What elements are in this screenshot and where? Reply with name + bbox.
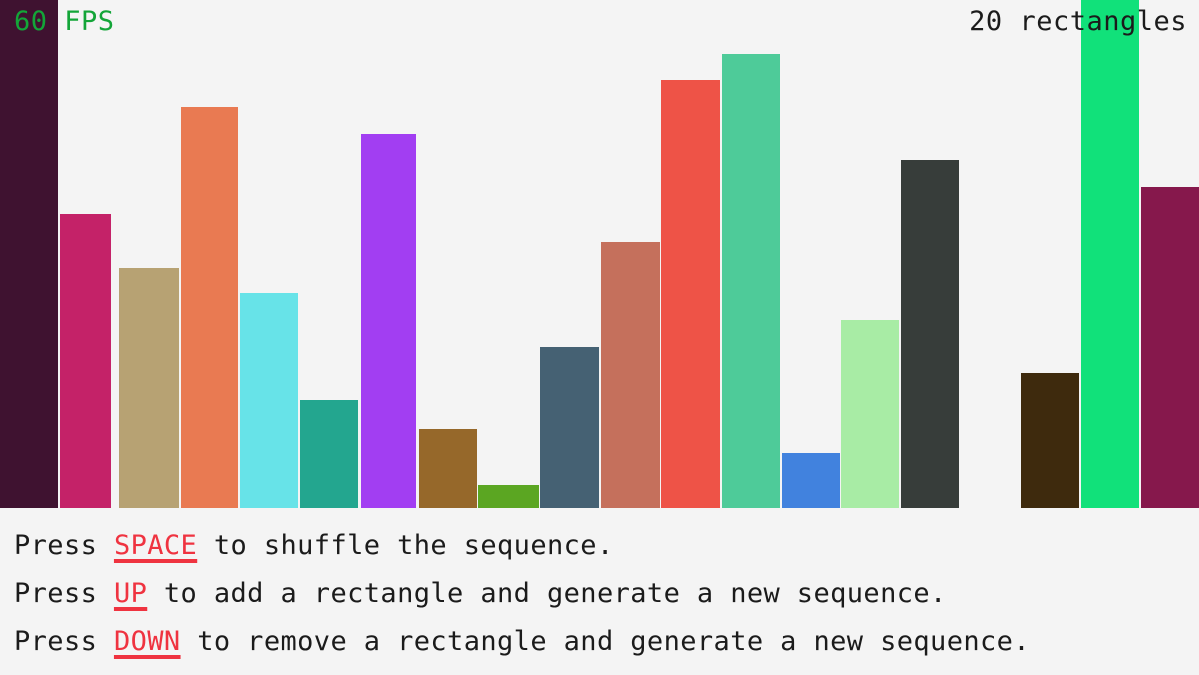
rectangle-count-label: 20 rectangles	[969, 7, 1187, 37]
bar-16-dark-gray	[901, 160, 959, 508]
instruction-line-remove: Press DOWN to remove a rectangle and gen…	[14, 618, 1199, 666]
instructions-panel: Press SPACE to shuffle the sequence. Pre…	[0, 508, 1199, 675]
bar-11-terracotta	[601, 242, 660, 508]
instruction-suffix: to add a rectangle and generate a new se…	[147, 578, 946, 609]
key-up[interactable]: UP	[114, 578, 147, 609]
fps-counter: 60 FPS	[14, 7, 115, 37]
bar-2-magenta	[60, 214, 111, 508]
bar-19-bright-green	[1081, 0, 1139, 508]
instruction-suffix: to shuffle the sequence.	[197, 530, 613, 561]
bar-10-slate-blue	[540, 347, 599, 508]
bar-9-olive-green	[478, 485, 539, 508]
bar-18-dark-brown	[1021, 373, 1079, 508]
bar-7-purple	[361, 134, 416, 508]
bar-chart-canvas[interactable]	[0, 0, 1199, 508]
key-space[interactable]: SPACE	[114, 530, 197, 561]
instruction-line-shuffle: Press SPACE to shuffle the sequence.	[14, 522, 1199, 570]
instruction-prefix: Press	[14, 578, 114, 609]
bar-20-maroon	[1141, 187, 1199, 508]
bar-13-sea-green	[722, 54, 780, 508]
bar-15-light-green	[841, 320, 899, 508]
instruction-prefix: Press	[14, 530, 114, 561]
bar-8-brown	[419, 429, 477, 508]
bar-3-tan	[119, 268, 179, 508]
bar-5-cyan	[240, 293, 298, 508]
bar-1-dark-plum	[0, 0, 58, 508]
bar-6-teal	[300, 400, 358, 508]
instruction-prefix: Press	[14, 626, 114, 657]
instruction-suffix: to remove a rectangle and generate a new…	[181, 626, 1030, 657]
bar-4-orange	[181, 107, 238, 508]
bar-12-red	[661, 80, 720, 508]
instruction-line-add: Press UP to add a rectangle and generate…	[14, 570, 1199, 618]
key-down[interactable]: DOWN	[114, 626, 181, 657]
bar-14-blue	[782, 453, 840, 508]
app-window: 60 FPS 20 rectangles Press SPACE to shuf…	[0, 0, 1199, 675]
